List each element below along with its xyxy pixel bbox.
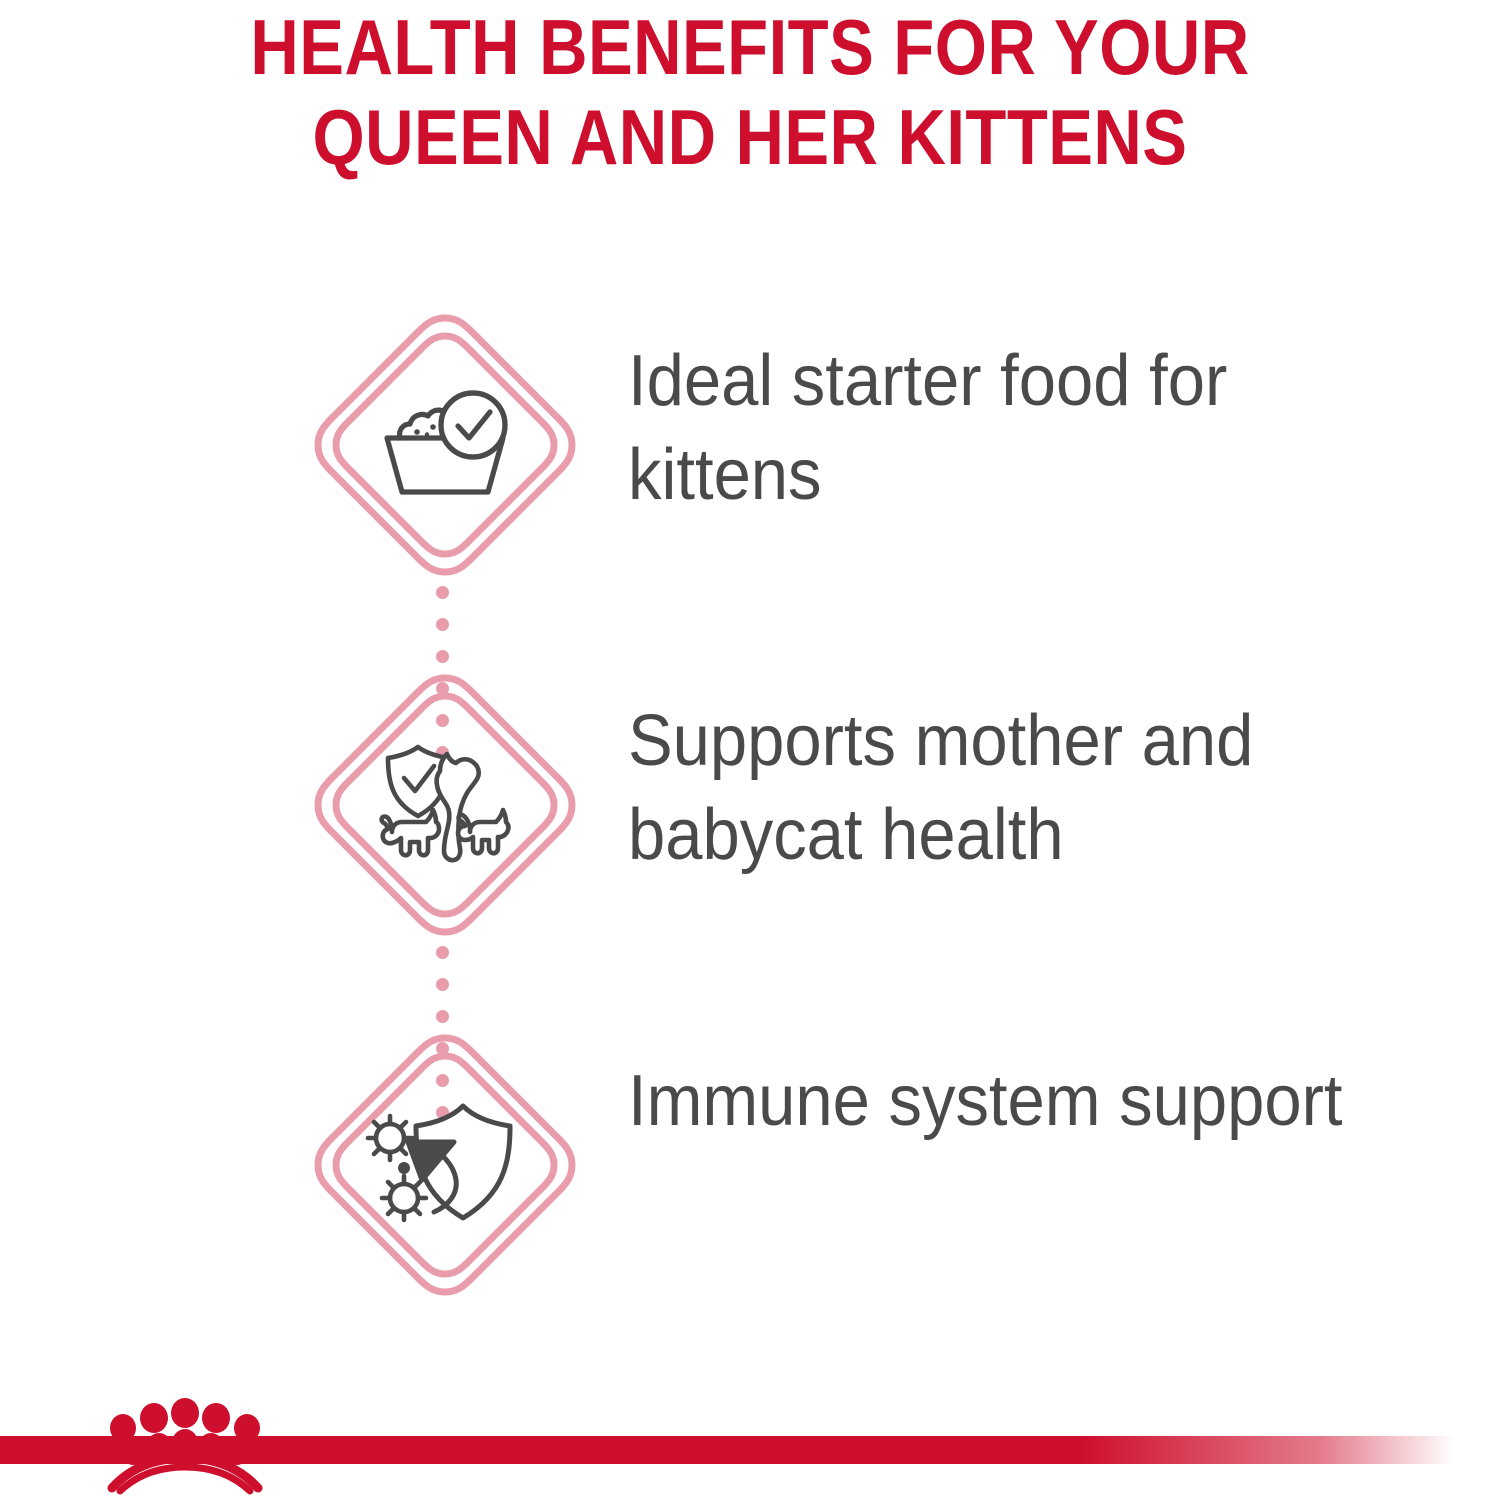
- benefit-text-cell-3: Immune system support: [590, 1020, 1500, 1148]
- benefit-icon-cell-3: [300, 1020, 590, 1310]
- diamond-frame: [314, 314, 576, 576]
- benefit-label: Immune system support: [628, 1054, 1409, 1148]
- benefit-icon-cell-2: [300, 660, 590, 950]
- shield-germs-immune-icon: [370, 1090, 520, 1240]
- benefit-text-cell-1: Ideal starter food for kittens: [590, 300, 1500, 522]
- footer: [0, 1388, 1500, 1493]
- benefit-item-1: Ideal starter food for kittens: [0, 300, 1500, 660]
- benefit-label: Ideal starter food for kittens: [628, 334, 1409, 522]
- benefit-text-cell-2: Supports mother and babycat health: [590, 660, 1500, 882]
- page-title-line-1: HEALTH BENEFITS FOR YOUR: [105, 2, 1395, 92]
- benefit-item-3: Immune system support: [0, 1020, 1500, 1380]
- page-title-line-2: QUEEN AND HER KITTENS: [105, 92, 1395, 182]
- benefit-icon-cell-1: [300, 300, 590, 590]
- diamond-frame: [314, 674, 576, 936]
- food-bowl-check-icon: [370, 370, 520, 520]
- benefit-label: Supports mother and babycat health: [628, 694, 1409, 882]
- page-title: HEALTH BENEFITS FOR YOUR QUEEN AND HER K…: [0, 2, 1500, 182]
- benefit-item-2: Supports mother and babycat health: [0, 660, 1500, 1020]
- benefits-list: Ideal starter food for kittens: [0, 300, 1500, 1380]
- royal-canin-crown-logo: [96, 1392, 272, 1493]
- diamond-frame: [314, 1034, 576, 1296]
- shield-mother-kittens-icon: [370, 730, 520, 880]
